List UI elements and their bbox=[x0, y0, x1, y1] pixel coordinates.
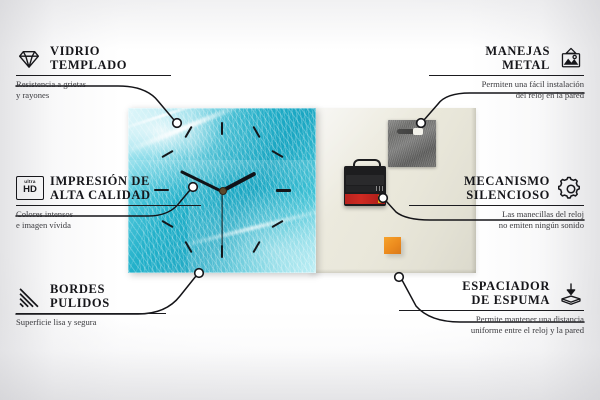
feature-manejas-metal[interactable]: MANEJAS METAL Permiten una fácil instala… bbox=[429, 45, 584, 100]
feature-header: VIDRIO TEMPLADO bbox=[16, 45, 171, 72]
feature-description: Superficie lisa y segura bbox=[16, 317, 166, 328]
feature-header: ESPACIADOR DE ESPUMA bbox=[399, 280, 584, 307]
feature-description: Permite mantener una distancia uniforme … bbox=[399, 314, 584, 335]
feature-description: Permiten una fácil instalación del reloj… bbox=[429, 79, 584, 100]
feature-underline bbox=[16, 313, 166, 314]
arrow-onto-pad-icon bbox=[558, 281, 584, 307]
feature-impresion-alta-calidad[interactable]: ultra HD IMPRESIÓN DE ALTA CALIDAD Color… bbox=[16, 175, 201, 230]
feature-description: Resistencia a grietas y rayones bbox=[16, 79, 171, 100]
hanger-slot bbox=[397, 129, 423, 134]
mechanism-detail-dots bbox=[376, 186, 384, 191]
back-panel-edge-bottom bbox=[310, 269, 476, 273]
feature-vidrio-templado[interactable]: VIDRIO TEMPLADO Resistencia a grietas y … bbox=[16, 45, 171, 100]
feature-title: VIDRIO TEMPLADO bbox=[50, 45, 127, 72]
clock-mechanism bbox=[344, 166, 386, 206]
feature-header: MECANISMO SILENCIOSO bbox=[409, 175, 584, 202]
diamond-icon bbox=[16, 46, 42, 72]
feature-header: BORDES PULIDOS bbox=[16, 283, 166, 310]
feature-underline bbox=[16, 205, 201, 206]
feature-mecanismo-silencioso[interactable]: MECANISMO SILENCIOSO Las manecillas del … bbox=[409, 175, 584, 230]
feature-title: MANEJAS METAL bbox=[485, 45, 550, 72]
mechanism-battery bbox=[345, 194, 385, 204]
feature-header: MANEJAS METAL bbox=[429, 45, 584, 72]
feature-underline bbox=[409, 205, 584, 206]
mechanism-handle bbox=[353, 159, 381, 170]
feature-header: ultra HD IMPRESIÓN DE ALTA CALIDAD bbox=[16, 175, 201, 202]
foam-spacer bbox=[384, 237, 401, 254]
feature-espaciador-espuma[interactable]: ESPACIADOR DE ESPUMA Permite mantener un… bbox=[399, 280, 584, 335]
feature-underline bbox=[399, 310, 584, 311]
polished-edges-icon bbox=[16, 284, 42, 310]
feature-underline bbox=[16, 75, 171, 76]
ultra-hd-icon: ultra HD bbox=[16, 176, 42, 202]
mechanism-band-secondary bbox=[346, 186, 376, 192]
picture-frame-hanger-icon bbox=[558, 46, 584, 72]
feature-description: Las manecillas del reloj no emiten ningú… bbox=[409, 209, 584, 230]
feature-title: BORDES PULIDOS bbox=[50, 283, 110, 310]
feature-title: IMPRESIÓN DE ALTA CALIDAD bbox=[50, 175, 151, 202]
mechanism-band bbox=[346, 175, 384, 185]
gear-icon bbox=[558, 176, 584, 202]
metal-hanger-plate bbox=[388, 120, 436, 167]
feature-title: ESPACIADOR DE ESPUMA bbox=[462, 280, 550, 307]
infographic-canvas: VIDRIO TEMPLADO Resistencia a grietas y … bbox=[0, 0, 600, 400]
feature-description: Colores intensos e imagen vívida bbox=[16, 209, 201, 230]
hanger-grain bbox=[388, 120, 436, 167]
feature-bordes-pulidos[interactable]: BORDES PULIDOS Superficie lisa y segura bbox=[16, 283, 166, 328]
feature-underline bbox=[429, 75, 584, 76]
feature-title: MECANISMO SILENCIOSO bbox=[464, 175, 550, 202]
